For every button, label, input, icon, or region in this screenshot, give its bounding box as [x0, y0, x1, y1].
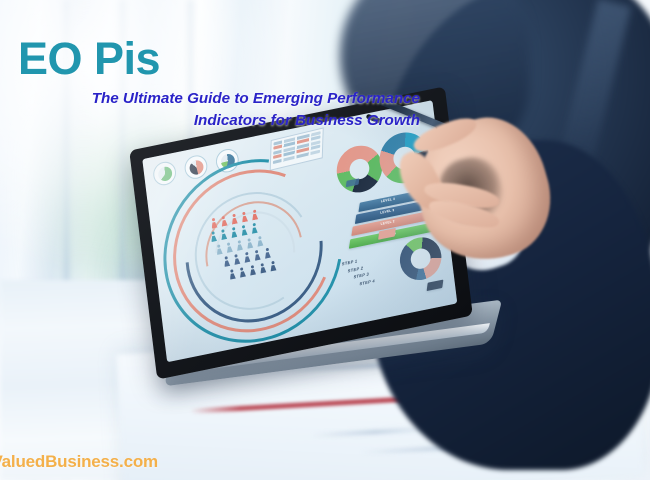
analytics-dashboard: LEVEL 4 LEVEL 3 LEVEL 2 LEVEL 1 STEP 1 S…	[142, 100, 457, 362]
page-title: EO Pis	[18, 36, 160, 81]
page-subtitle: The Ultimate Guide to Emerging Performan…	[20, 88, 420, 132]
funnel-bar-label: LEVEL 2	[380, 220, 394, 227]
steps-list: STEP 1 STEP 2 STEP 3 STEP 4	[342, 255, 376, 291]
subtitle-line-1: The Ultimate Guide to Emerging Performan…	[20, 88, 420, 110]
funnel-bar-label: LEVEL 3	[380, 209, 394, 216]
people-pictogram-chart	[206, 210, 262, 286]
subtitle-line-2: Indicators for Business Growth	[20, 110, 420, 132]
callout-tag-navy	[427, 280, 444, 292]
step-label: STEP 4	[359, 278, 375, 286]
header-graphic: LEVEL 4 LEVEL 3 LEVEL 2 LEVEL 1 STEP 1 S…	[0, 0, 650, 480]
cycle-diagram-left	[334, 142, 385, 197]
laptop-screen: LEVEL 4 LEVEL 3 LEVEL 2 LEVEL 1 STEP 1 S…	[142, 100, 457, 362]
site-watermark: tValuedBusiness.com	[0, 452, 158, 472]
funnel-bar-label: LEVEL 4	[381, 197, 395, 204]
